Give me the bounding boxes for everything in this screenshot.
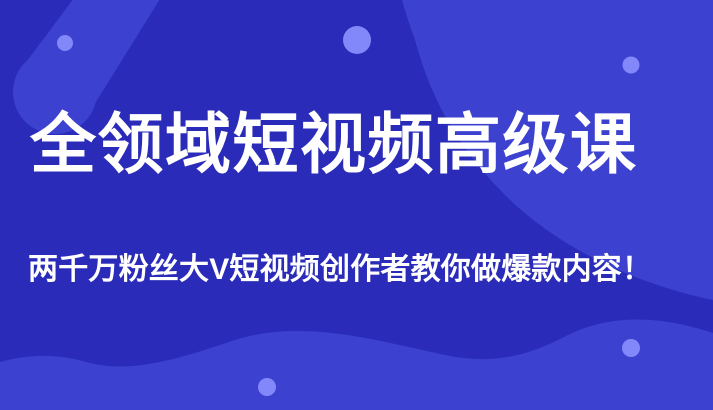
text-layer: 全领域短视频高级课 两千万粉丝大V短视频创作者教你做爆款内容！ [0,0,713,410]
banner-subtitle: 两千万粉丝大V短视频创作者教你做爆款内容！ [28,250,688,290]
course-promo-banner: 全领域短视频高级课 两千万粉丝大V短视频创作者教你做爆款内容！ [0,0,713,410]
banner-title: 全领域短视频高级课 [30,106,685,182]
